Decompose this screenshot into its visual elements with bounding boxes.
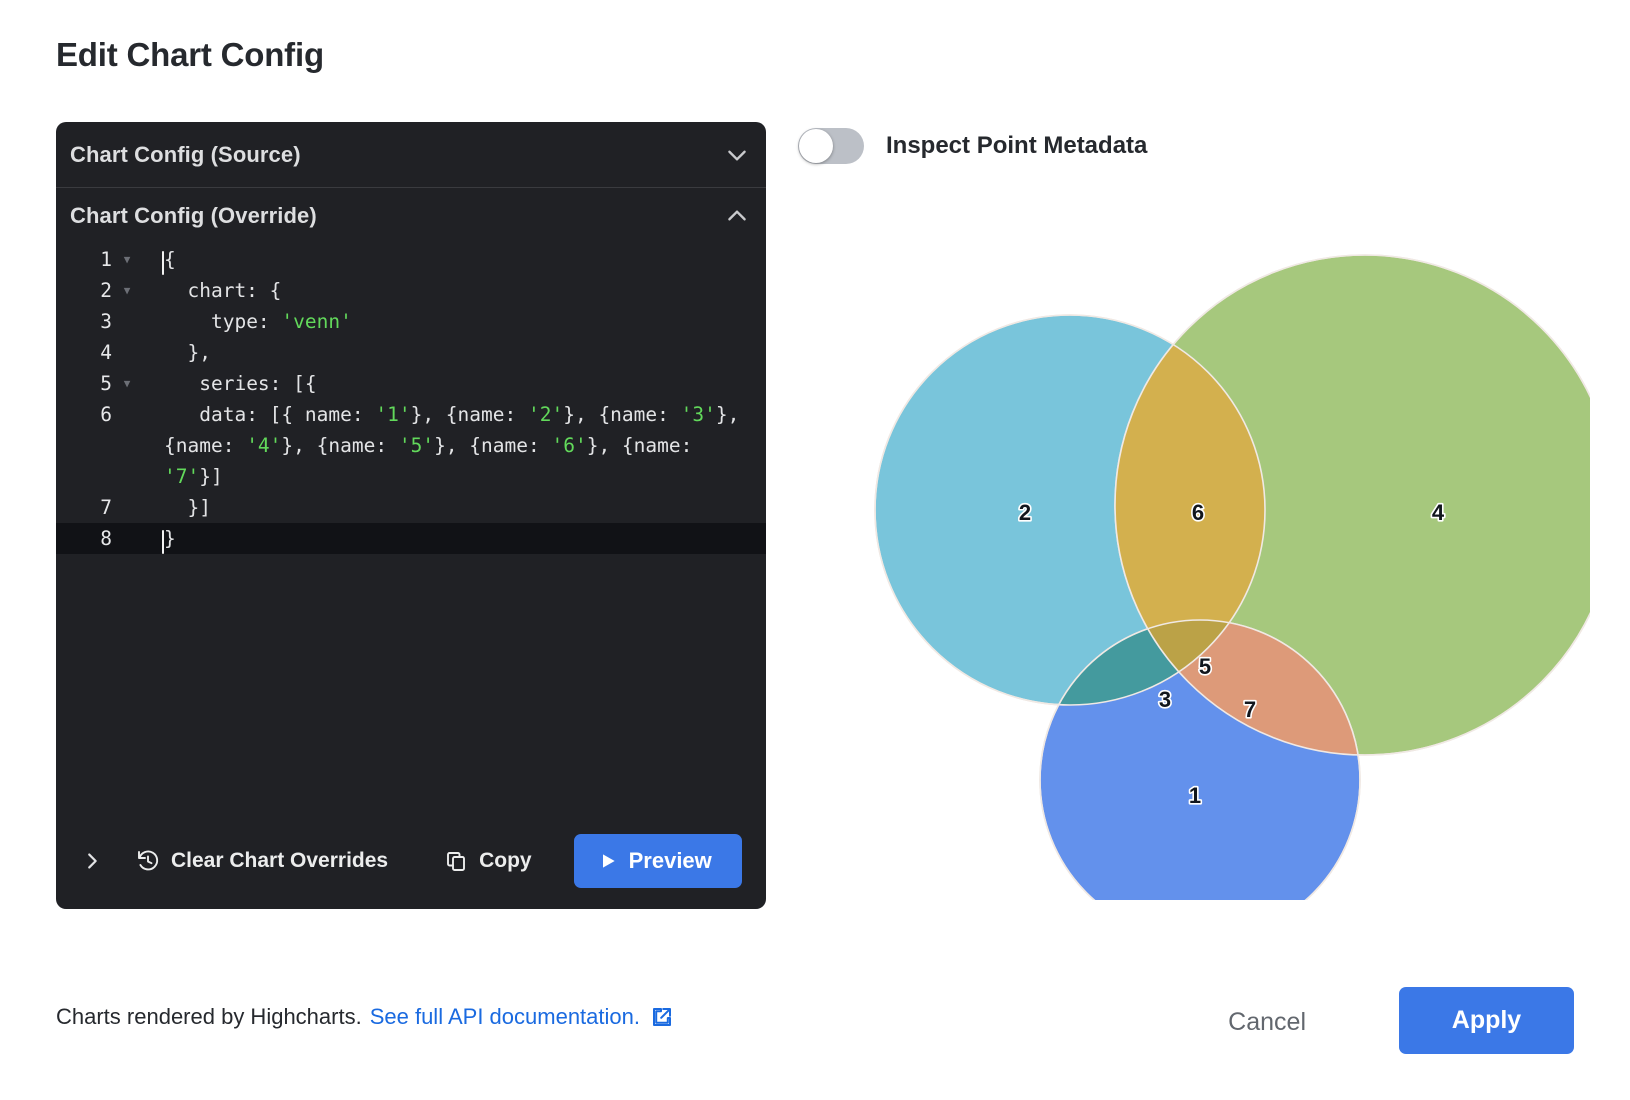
chevron-right-icon[interactable] <box>74 843 110 879</box>
inspect-point-metadata-toggle[interactable] <box>798 128 864 164</box>
venn-region-label: 4 <box>1432 500 1445 525</box>
code-token: }] <box>164 496 211 519</box>
code-text: type: 'venn' <box>164 306 766 337</box>
code-string-token: '5' <box>399 434 434 457</box>
chart-config-source-label: Chart Config (Source) <box>70 142 301 168</box>
code-line[interactable]: 2▼ chart: { <box>56 275 766 306</box>
line-number: 1 <box>56 244 116 275</box>
chart-config-override-accordion-header[interactable]: Chart Config (Override) <box>56 188 766 244</box>
chart-config-editor-panel: Chart Config (Source) Chart Config (Over… <box>56 122 766 909</box>
code-token: }, {name: <box>411 403 528 426</box>
code-token: type: <box>164 310 281 333</box>
code-line[interactable]: 8} <box>56 523 766 554</box>
code-editor[interactable]: 1▼{2▼ chart: {3 type: 'venn'4 },5▼ serie… <box>56 244 766 825</box>
play-icon <box>598 851 618 871</box>
venn-region-label: 6 <box>1192 500 1204 525</box>
preview-button[interactable]: Preview <box>574 834 742 888</box>
footer-attribution: Charts rendered by Highcharts. See full … <box>56 1004 674 1030</box>
venn-svg: 2643571 <box>790 220 1590 900</box>
fold-arrow-icon[interactable]: ▼ <box>116 368 138 399</box>
line-number: 4 <box>56 337 116 368</box>
copy-button[interactable]: Copy <box>430 839 546 883</box>
external-link-icon[interactable] <box>650 1005 674 1029</box>
code-token: }, <box>164 341 211 364</box>
code-string-token: '6' <box>551 434 586 457</box>
line-number: 8 <box>56 523 116 554</box>
history-revert-icon <box>136 849 160 873</box>
code-text: }] <box>164 492 766 523</box>
code-string-token: 'venn' <box>281 310 351 333</box>
code-line[interactable]: 5▼ series: [{ <box>56 368 766 399</box>
code-text: }, <box>164 337 766 368</box>
venn-diagram-chart[interactable]: 2643571 <box>790 220 1590 900</box>
editor-toolbar: Clear Chart Overrides Copy Preview <box>56 825 766 909</box>
code-token: }, {name: <box>587 434 704 457</box>
code-token: chart: { <box>164 279 281 302</box>
code-token: data: [{ name: <box>164 403 375 426</box>
cancel-button[interactable]: Cancel <box>1202 992 1332 1053</box>
apply-button[interactable]: Apply <box>1399 987 1574 1054</box>
code-text: } <box>164 523 766 554</box>
code-string-token: '2' <box>528 403 563 426</box>
code-line[interactable]: 4 }, <box>56 337 766 368</box>
code-text: data: [{ name: '1'}, {name: '2'}, {name:… <box>164 399 766 492</box>
chevron-down-icon[interactable] <box>724 142 750 168</box>
code-line[interactable]: 7 }] <box>56 492 766 523</box>
code-text: series: [{ <box>164 368 766 399</box>
chevron-up-icon[interactable] <box>724 203 750 229</box>
code-string-token: '7' <box>164 465 199 488</box>
toggle-knob <box>799 129 833 163</box>
clear-chart-overrides-button[interactable]: Clear Chart Overrides <box>122 839 402 883</box>
fold-arrow-icon[interactable]: ▼ <box>116 275 138 306</box>
code-token: { <box>164 248 176 271</box>
code-string-token: '3' <box>681 403 716 426</box>
code-token: }, {name: <box>434 434 551 457</box>
clear-chart-overrides-label: Clear Chart Overrides <box>171 849 388 873</box>
venn-region-label: 2 <box>1019 500 1031 525</box>
page-title: Edit Chart Config <box>56 36 324 74</box>
line-number: 5 <box>56 368 116 399</box>
inspect-point-metadata-row: Inspect Point Metadata <box>798 128 1147 164</box>
chart-config-override-label: Chart Config (Override) <box>70 203 317 229</box>
venn-region-label: 3 <box>1159 687 1171 712</box>
line-number: 2 <box>56 275 116 306</box>
code-line[interactable]: 1▼{ <box>56 244 766 275</box>
code-string-token: '1' <box>375 403 410 426</box>
line-number: 3 <box>56 306 116 337</box>
api-documentation-link[interactable]: See full API documentation. <box>370 1004 640 1030</box>
chart-config-source-accordion-header[interactable]: Chart Config (Source) <box>56 122 766 188</box>
code-string-token: '4' <box>246 434 281 457</box>
code-token: }, {name: <box>563 403 680 426</box>
code-token: } <box>164 527 176 550</box>
venn-region-label: 7 <box>1244 697 1256 722</box>
code-token: series: [{ <box>164 372 317 395</box>
edit-chart-config-dialog: Edit Chart Config Chart Config (Source) … <box>0 0 1630 1100</box>
line-number: 6 <box>56 399 116 430</box>
copy-icon <box>444 849 468 873</box>
code-text: { <box>164 244 766 275</box>
inspect-point-metadata-label: Inspect Point Metadata <box>886 132 1147 160</box>
code-text: chart: { <box>164 275 766 306</box>
venn-region-label: 5 <box>1199 654 1211 679</box>
code-token: }] <box>199 465 222 488</box>
fold-arrow-icon[interactable]: ▼ <box>116 244 138 275</box>
preview-label: Preview <box>629 848 712 874</box>
dialog-footer: Charts rendered by Highcharts. See full … <box>0 970 1630 1100</box>
venn-region-label: 1 <box>1189 783 1201 808</box>
copy-label: Copy <box>479 849 532 873</box>
code-line[interactable]: 3 type: 'venn' <box>56 306 766 337</box>
footer-note-text: Charts rendered by Highcharts. <box>56 1004 362 1030</box>
code-token: }, {name: <box>281 434 398 457</box>
code-line[interactable]: 6 data: [{ name: '1'}, {name: '2'}, {nam… <box>56 399 766 492</box>
line-number: 7 <box>56 492 116 523</box>
